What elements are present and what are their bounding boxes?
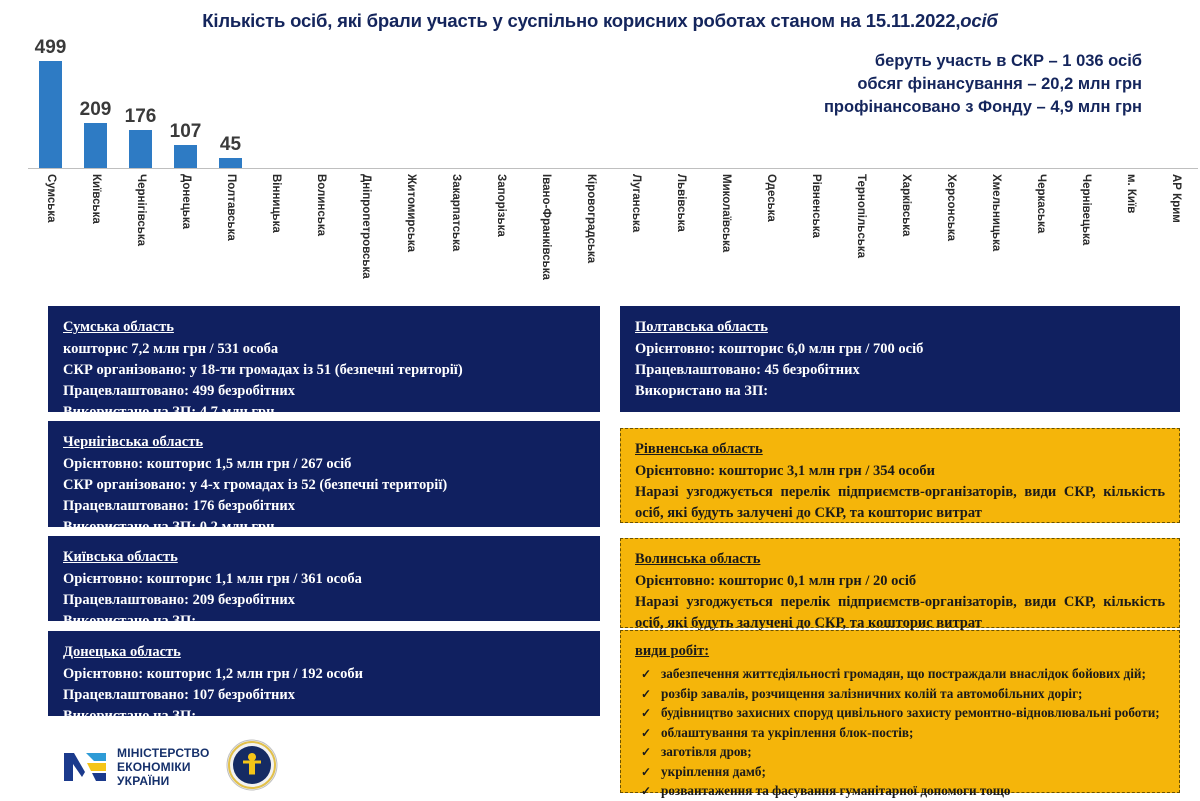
chart-bar-column [838, 48, 883, 168]
state-employment-service-logo [226, 739, 278, 796]
chart-bar-column: 499 [28, 48, 73, 168]
chart-category-label-text: Вінницька [270, 174, 282, 233]
chart-bar-value-label: 499 [35, 37, 67, 59]
region-card: Полтавська областьОрієнтовно: кошторис 6… [620, 306, 1180, 412]
region-card-line: Використано на ЗП: [635, 381, 1165, 402]
chart-category-label: Херсонська [928, 172, 973, 288]
chart-category-label: Харківська [883, 172, 928, 288]
chart-bar-column [928, 48, 973, 168]
check-icon: ✓ [641, 704, 651, 723]
chart-category-label: Чернівецька [1063, 172, 1108, 288]
works-type-item: ✓заготівля дров; [635, 743, 1165, 762]
ministry-mark-icon [62, 747, 108, 787]
chart-category-label-text: Полтавська [225, 174, 237, 241]
works-type-item: ✓розвантаження та фасування гуманітарної… [635, 782, 1165, 801]
check-icon: ✓ [641, 685, 651, 704]
chart-category-label-text: Дніпропетровська [360, 174, 372, 279]
region-card-line: Орієнтовно: кошторис 0,1 млн грн / 20 ос… [635, 571, 1165, 592]
works-type-item: ✓будівництво захисних споруд цивільного … [635, 704, 1165, 723]
chart-category-label-text: Рівненська [810, 174, 822, 238]
chart-x-axis-line [28, 168, 1198, 169]
chart-category-label: Сумська [28, 172, 73, 288]
works-types-card: види робіт: ✓забезпечення життєдіяльност… [620, 630, 1180, 793]
works-type-text: розвантаження та фасування гуманітарної … [661, 783, 1011, 798]
chart-bar [39, 61, 62, 168]
chart-bar-column: 45 [208, 48, 253, 168]
check-icon: ✓ [641, 743, 651, 762]
page-title-unit: осіб [960, 10, 997, 31]
ministry-wordmark: МІНІСТЕРСТВО ЕКОНОМІКИ УКРАЇНИ [117, 746, 210, 788]
region-card-title: Рівненська область [635, 439, 763, 460]
chart-bar-column: 107 [163, 48, 208, 168]
chart-category-label: Донецька [163, 172, 208, 288]
chart-category-label: м. Київ [1108, 172, 1153, 288]
region-card-line: Орієнтовно: кошторис 1,1 млн грн / 361 о… [63, 569, 585, 590]
chart-category-label: Миколаївська [703, 172, 748, 288]
chart-category-label-text: Черкаська [1035, 174, 1047, 233]
chart-bar-column [1108, 48, 1153, 168]
chart-category-label-text: Чернігівська [135, 174, 147, 246]
check-icon: ✓ [641, 665, 651, 684]
region-card-line: Використано на ЗП: 4,7 млн грн [63, 402, 585, 423]
region-card: Донецька областьОрієнтовно: кошторис 1,2… [48, 631, 600, 716]
chart-bar-column [883, 48, 928, 168]
chart-bar [219, 158, 242, 168]
region-card-line: Використано на ЗП: [63, 611, 585, 632]
check-icon: ✓ [641, 763, 651, 782]
region-card-line: СКР організовано: у 18-ти громадах із 51… [63, 360, 585, 381]
employment-service-seal-icon [226, 778, 278, 795]
works-type-text: забезпечення життєдіяльності громадян, щ… [661, 666, 1146, 681]
chart-bar-value-label: 107 [170, 121, 202, 143]
region-card-line: СКР організовано: у 4-х громадах із 52 (… [63, 475, 585, 496]
works-type-text: облаштування та укріплення блок-постів; [661, 725, 913, 740]
region-card-line: Працевлаштовано: 176 безробітних [63, 496, 585, 517]
chart-category-label: Львівська [658, 172, 703, 288]
chart-bar-column [343, 48, 388, 168]
chart-category-label-text: Донецька [180, 174, 192, 229]
works-types-list: ✓забезпечення життєдіяльності громадян, … [635, 665, 1165, 801]
page-title: Кількість осіб, які брали участь у суспі… [0, 10, 1200, 32]
chart-category-label-text: Одеська [765, 174, 777, 222]
region-card-title: Полтавська область [635, 317, 768, 338]
chart-category-label: Чернігівська [118, 172, 163, 288]
works-type-item: ✓забезпечення життєдіяльності громадян, … [635, 665, 1165, 684]
chart-category-label: Вінницька [253, 172, 298, 288]
chart-bar-column [478, 48, 523, 168]
chart-category-label-text: Львівська [675, 174, 687, 232]
chart-bar-column [973, 48, 1018, 168]
region-card-line: Орієнтовно: кошторис 1,2 млн грн / 192 о… [63, 664, 585, 685]
chart-bar-column: 176 [118, 48, 163, 168]
chart-category-label-text: Тернопільська [855, 174, 867, 258]
chart-bar-column [523, 48, 568, 168]
region-card-line: Орієнтовно: кошторис 3,1 млн грн / 354 о… [635, 461, 1165, 482]
region-card: Сумська областькошторис 7,2 млн грн / 53… [48, 306, 600, 412]
works-type-text: розбір завалів, розчищення залізничних к… [661, 686, 1082, 701]
chart-category-label: Хмельницька [973, 172, 1018, 288]
region-card-line: Орієнтовно: кошторис 6,0 млн грн / 700 о… [635, 339, 1165, 360]
chart-category-label: Запорізька [478, 172, 523, 288]
region-card-title: Сумська область [63, 317, 174, 338]
works-type-text: укріплення дамб; [661, 764, 766, 779]
check-icon: ✓ [641, 782, 651, 801]
chart-bar [84, 123, 107, 168]
chart-category-label: Рівненська [793, 172, 838, 288]
region-card-line: кошторис 7,2 млн грн / 531 особа [63, 339, 585, 360]
chart-category-label-text: Харківська [900, 174, 912, 236]
region-card-line: Працевлаштовано: 107 безробітних [63, 685, 585, 706]
chart-bar [174, 145, 197, 168]
chart-category-label: Одеська [748, 172, 793, 288]
chart-category-label-text: Івано-Франківська [540, 174, 552, 280]
chart-bar-column [433, 48, 478, 168]
chart-bar-column [253, 48, 298, 168]
chart-category-label: Закарпатська [433, 172, 478, 288]
chart-category-label: Черкаська [1018, 172, 1063, 288]
chart-bar-column [1018, 48, 1063, 168]
bar-chart: 49920917610745 СумськаКиївськаЧернігівсь… [28, 48, 1198, 288]
region-card: Рівненська областьОрієнтовно: кошторис 3… [620, 428, 1180, 523]
region-card-line: Використано на ЗП: 0,2 млн грн [63, 517, 585, 538]
region-card-line: Орієнтовно: кошторис 1,5 млн грн / 267 о… [63, 454, 585, 475]
chart-category-label: АР Крим [1153, 172, 1198, 288]
works-type-item: ✓розбір завалів, розчищення залізничних … [635, 685, 1165, 704]
chart-category-label-text: м. Київ [1125, 174, 1137, 213]
region-card-title: Волинська область [635, 549, 760, 570]
region-card-note: Наразі узгоджується перелік підприємств-… [635, 592, 1165, 634]
chart-bar-column [658, 48, 703, 168]
chart-category-label: Луганська [613, 172, 658, 288]
chart-bar-column [793, 48, 838, 168]
region-card-line: Працевлаштовано: 45 безробітних [635, 360, 1165, 381]
logo-bar: МІНІСТЕРСТВО ЕКОНОМІКИ УКРАЇНИ [62, 738, 278, 796]
chart-category-label-text: Луганська [630, 174, 642, 232]
region-card: Київська областьОрієнтовно: кошторис 1,1… [48, 536, 600, 621]
chart-category-label: Київська [73, 172, 118, 288]
chart-category-labels: СумськаКиївськаЧернігівськаДонецькаПолта… [28, 172, 1198, 288]
check-icon: ✓ [641, 724, 651, 743]
chart-category-label: Полтавська [208, 172, 253, 288]
region-card-note: Наразі узгоджується перелік підприємств-… [635, 482, 1165, 524]
chart-category-label-text: Миколаївська [720, 174, 732, 252]
chart-bar-column [748, 48, 793, 168]
chart-plot-area: 49920917610745 [28, 48, 1198, 168]
chart-bar-value-label: 45 [220, 134, 241, 156]
chart-bar [129, 130, 152, 168]
chart-category-label-text: Житомирська [405, 174, 417, 252]
works-types-title: види робіт: [635, 641, 709, 662]
chart-category-label-text: Київська [90, 174, 102, 224]
chart-category-label: Волинська [298, 172, 343, 288]
ministry-of-economy-logo: МІНІСТЕРСТВО ЕКОНОМІКИ УКРАЇНИ [62, 746, 210, 788]
chart-category-label: Житомирська [388, 172, 433, 288]
region-card: Чернігівська областьОрієнтовно: кошторис… [48, 421, 600, 527]
chart-category-label: Дніпропетровська [343, 172, 388, 288]
chart-category-label-text: Кіровоградська [585, 174, 597, 263]
chart-category-label: Кіровоградська [568, 172, 613, 288]
chart-category-label: Івано-Франківська [523, 172, 568, 288]
chart-category-label-text: Хмельницька [990, 174, 1002, 251]
chart-bar-column [298, 48, 343, 168]
region-card-line: Працевлаштовано: 209 безробітних [63, 590, 585, 611]
chart-bar-column [1063, 48, 1108, 168]
chart-bar-column [1153, 48, 1198, 168]
ministry-wordmark-line2: ЕКОНОМІКИ [117, 760, 210, 774]
chart-category-label-text: Херсонська [945, 174, 957, 241]
region-card-title: Донецька область [63, 642, 181, 663]
chart-bar-column [703, 48, 748, 168]
chart-bar-value-label: 176 [125, 106, 157, 128]
works-type-item: ✓укріплення дамб; [635, 763, 1165, 782]
chart-category-label-text: Сумська [45, 174, 57, 223]
chart-category-label-text: Запорізька [495, 174, 507, 237]
chart-category-label-text: Закарпатська [450, 174, 462, 251]
chart-category-label-text: Волинська [315, 174, 327, 236]
page-title-main: Кількість осіб, які брали участь у суспі… [202, 10, 960, 31]
ministry-wordmark-line1: МІНІСТЕРСТВО [117, 746, 210, 760]
region-card-title: Чернігівська область [63, 432, 203, 453]
chart-bar-column [613, 48, 658, 168]
region-card-title: Київська область [63, 547, 178, 568]
chart-bar-column [388, 48, 433, 168]
chart-bar-column: 209 [73, 48, 118, 168]
region-card-line: Використано на ЗП: [63, 706, 585, 727]
chart-category-label: Тернопільська [838, 172, 883, 288]
chart-bar-value-label: 209 [80, 99, 112, 121]
chart-bar-column [568, 48, 613, 168]
chart-category-label-text: Чернівецька [1080, 174, 1092, 245]
works-type-text: заготівля дров; [661, 744, 752, 759]
chart-category-label-text: АР Крим [1170, 174, 1182, 223]
region-card-line: Працевлаштовано: 499 безробітних [63, 381, 585, 402]
region-card: Волинська областьОрієнтовно: кошторис 0,… [620, 538, 1180, 628]
ministry-wordmark-line3: УКРАЇНИ [117, 774, 210, 788]
works-type-item: ✓облаштування та укріплення блок-постів; [635, 724, 1165, 743]
works-type-text: будівництво захисних споруд цивільного з… [661, 705, 1160, 720]
